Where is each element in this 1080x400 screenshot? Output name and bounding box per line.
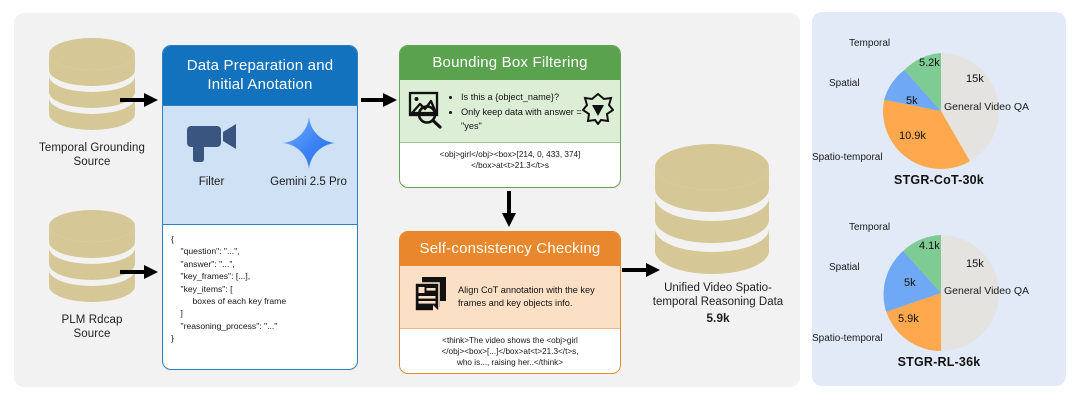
video-camera-icon: [183, 114, 241, 172]
source-label-plm-rdcap: PLM Rdcap Source: [0, 313, 184, 341]
source-label-temporal-grounding: Temporal Grounding Source: [0, 141, 184, 169]
pie2-label-general-video-qa: General Video QA: [944, 285, 1029, 297]
arrow-source1-to-prep: [120, 92, 160, 108]
arrow-filtering-to-selfconsistency: [501, 191, 517, 229]
bounding-box-filtering-body: Is this a {object_name}? Only keep data …: [400, 80, 620, 143]
gemini-sparkle-icon: [282, 114, 336, 172]
tool-filter: Filter: [167, 114, 257, 188]
arrow-source2-to-prep: [120, 264, 160, 280]
database-cylinder-icon: [652, 142, 772, 282]
pie1-value-temporal: 5.2k: [919, 57, 940, 69]
source-label-line2: Source: [73, 328, 110, 340]
pie1-value-spatio-temporal: 10.9k: [899, 130, 926, 142]
pie2-value-temporal: 4.1k: [919, 240, 940, 252]
filter-bullet-item: Is this a {object_name}?: [461, 90, 582, 104]
code-line2: </obj><box>[...]</box>at<t>21.3</t>s,: [441, 347, 578, 356]
code-line2: </box>at<t>21.3</t>s: [471, 161, 549, 170]
source-label-line1: Temporal Grounding: [39, 142, 145, 154]
json-sample-text: { "question": "...", "answer": "...", "k…: [163, 225, 357, 349]
self-consistency-body: Align CoT annotation with the key frames…: [400, 266, 620, 329]
pie2-title: STGR-RL-36k: [812, 355, 1066, 369]
arrow-prep-to-filtering: [361, 92, 399, 108]
pie2-value-spatial: 5k: [904, 277, 916, 289]
source-label-line2: Source: [73, 156, 110, 168]
pie1-value-spatial: 5k: [906, 95, 918, 107]
code-line3: who is..., raising her..</think>: [457, 358, 563, 367]
pie1-label-general-video-qa: General Video QA: [944, 101, 1029, 113]
qwen-logo-icon: [582, 93, 614, 130]
diagram-canvas: Temporal Grounding Source PLM Rdcap Sour…: [0, 0, 1080, 400]
pie2-value-general-video-qa: 15k: [966, 258, 984, 270]
self-consistency-title: Self-consistency Checking: [400, 232, 620, 266]
filter-bullet-list: Is this a {object_name}? Only keep data …: [448, 89, 582, 134]
pie2-label-temporal: Temporal: [849, 222, 890, 233]
pie2-value-spatio-temporal: 5.9k: [898, 313, 919, 325]
title-line2: Initial Anotation: [207, 76, 312, 93]
source-label-line1: PLM Rdcap: [62, 314, 123, 326]
self-consistency-code-sample: <think>The video shows the <obj>girl </o…: [400, 329, 620, 374]
bounding-box-filtering-title: Bounding Box Filtering: [400, 46, 620, 80]
tool-label: Gemini 2.5 Pro: [270, 176, 347, 188]
unified-data-label: Unified Video Spatio- temporal Reasoning…: [633, 281, 803, 325]
tool-gemini: Gemini 2.5 Pro: [264, 114, 354, 188]
self-consistency-card: Self-consistency Checking Align CoT anno…: [399, 231, 621, 374]
pie1-label-spatio-temporal: Spatio-temporal: [812, 152, 883, 163]
pie2-label-spatio-temporal: Spatio-temporal: [812, 333, 883, 344]
unified-data-count: 5.9k: [633, 311, 803, 325]
database-cylinder-icon: [47, 208, 137, 304]
pie2-label-spatial: Spatial: [829, 262, 860, 273]
image-search-icon: [406, 88, 448, 135]
code-line1: <think>The video shows the <obj>girl: [442, 336, 578, 345]
bounding-box-filtering-card: Bounding Box Filtering Is this a {object…: [399, 45, 621, 188]
pie-chart-stgr-cot-30k: [882, 52, 1000, 175]
tool-row: Filter Gemini 2.5: [163, 105, 357, 225]
pie1-title: STGR-CoT-30k: [812, 173, 1066, 187]
database-cylinder-icon: [47, 36, 137, 132]
data-preparation-card: Data Preparation and Initial Anotation F…: [162, 45, 358, 370]
filtering-code-sample: <obj>girl</obj><box>[214, 0, 433, 374] <…: [400, 143, 620, 177]
code-line1: <obj>girl</obj><box>[214, 0, 433, 374]: [440, 150, 581, 159]
filter-bullet-item: Only keep data with answer = "yes": [461, 105, 582, 133]
pie1-value-general-video-qa: 15k: [966, 73, 984, 85]
pie1-label-temporal: Temporal: [849, 38, 890, 49]
unified-label-line1: Unified Video Spatio-: [664, 282, 772, 294]
self-consistency-description: Align CoT annotation with the key frames…: [452, 284, 614, 310]
tool-label: Filter: [199, 176, 225, 188]
data-preparation-title: Data Preparation and Initial Anotation: [163, 46, 357, 105]
unified-label-line2: temporal Reasoning Data: [653, 296, 783, 308]
title-line1: Data Preparation and: [187, 57, 334, 74]
document-list-icon: [406, 275, 452, 320]
pie1-label-spatial: Spatial: [829, 78, 860, 89]
